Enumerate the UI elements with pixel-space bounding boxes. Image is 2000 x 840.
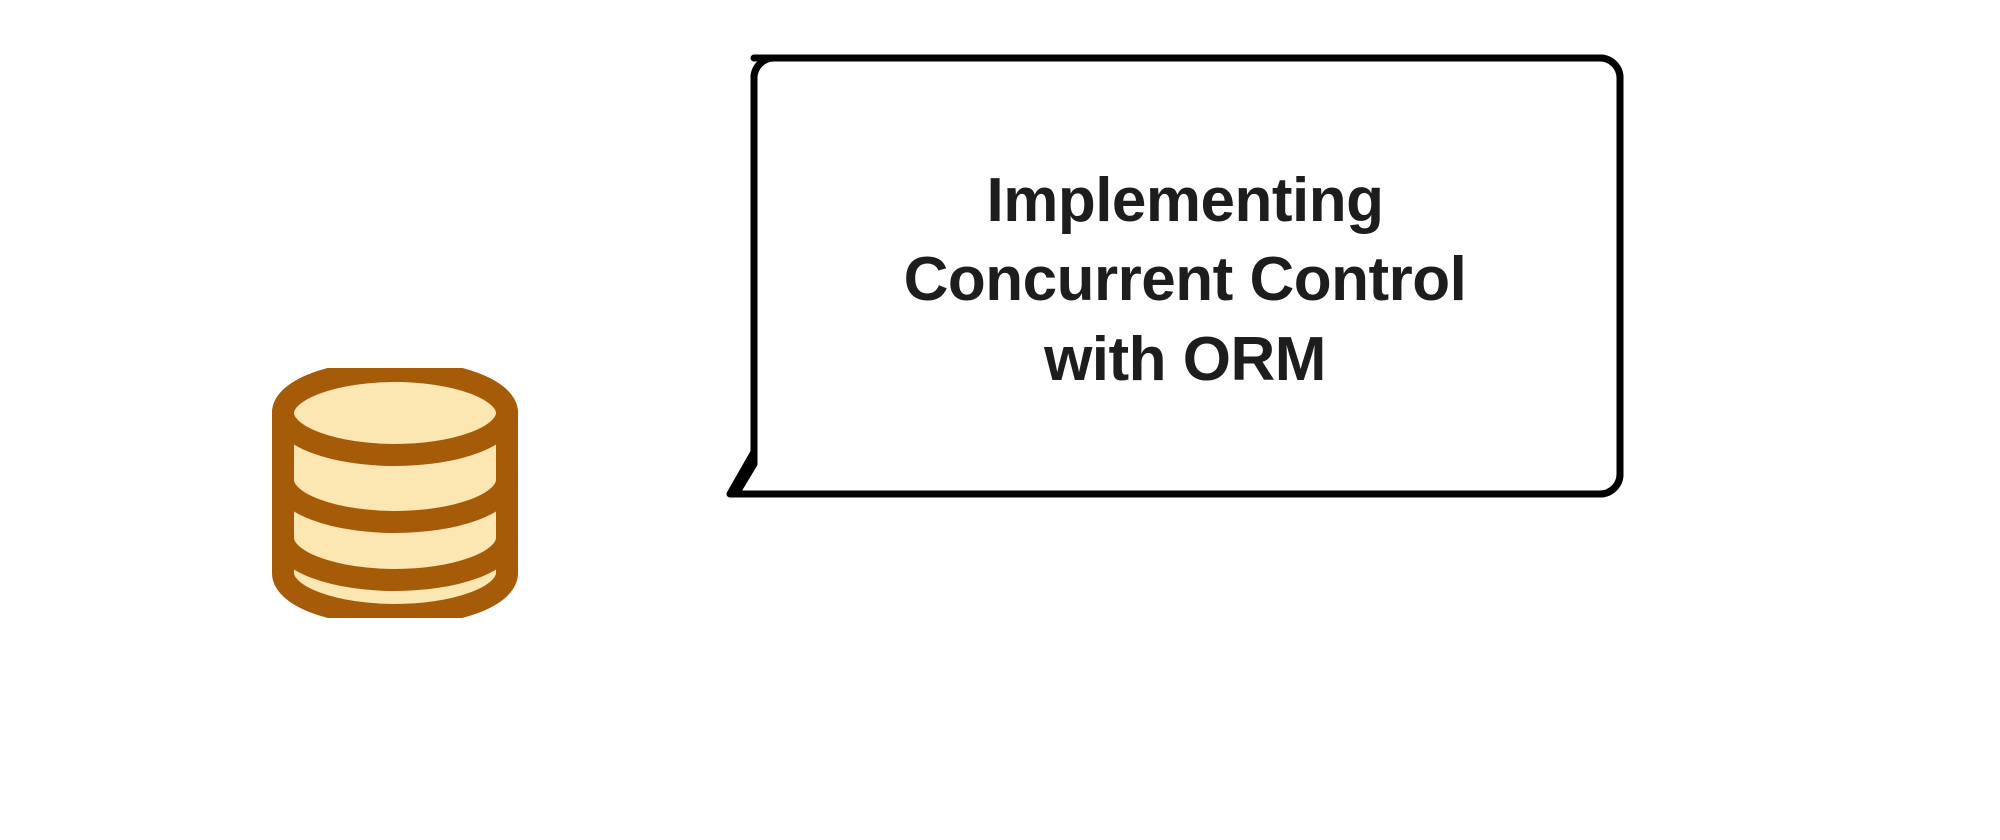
database-body (283, 371, 507, 615)
speech-bubble-svg (716, 40, 1656, 520)
database-cylinder-svg (272, 368, 518, 618)
speech-bubble-outline (736, 58, 1620, 494)
database-cylinder-icon (272, 368, 518, 618)
speech-bubble (716, 40, 1656, 520)
illustration-canvas: Implementing Concurrent Control with ORM (0, 0, 2000, 840)
cylinder-top-cap (283, 371, 507, 455)
